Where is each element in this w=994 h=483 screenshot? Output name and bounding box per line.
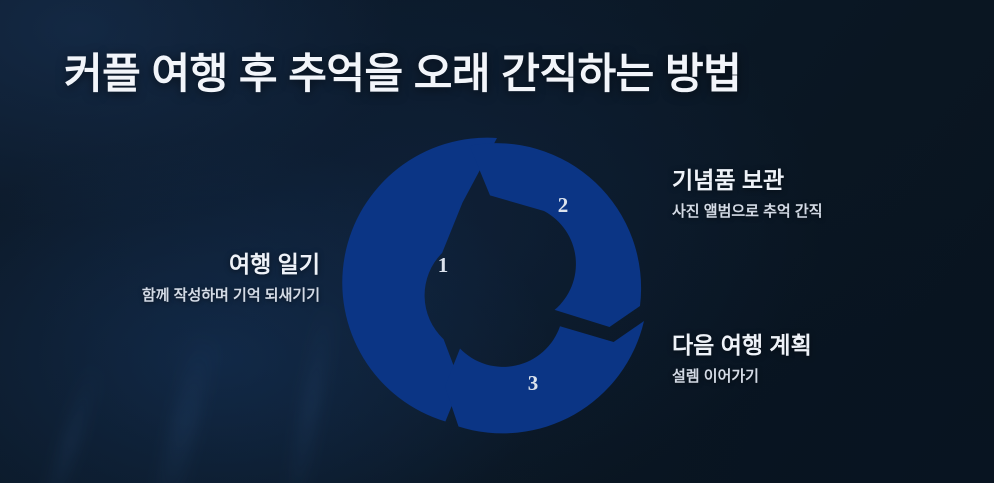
decorative-sheen-3 (33, 362, 104, 483)
decorative-sheen-2 (280, 300, 338, 483)
callout-top-right-title: 기념품 보관 (672, 166, 972, 194)
infographic-canvas: 커플 여행 후 추억을 오래 간직하는 방법 1 2 3 여행 일기 함께 작성… (0, 0, 994, 483)
callout-left-description: 함께 작성하며 기억 되새기기 (20, 287, 320, 306)
callout-top-right-description: 사진 앨범으로 추억 간직 (672, 203, 972, 222)
callout-bottom-right-title: 다음 여행 계획 (672, 331, 972, 359)
donut-segment-2-number: 2 (558, 193, 569, 217)
callout-souvenir-keeping[interactable]: 기념품 보관 사진 앨범으로 추억 간직 (672, 166, 972, 222)
callout-left-title: 여행 일기 (20, 250, 320, 278)
donut-segment-3-number: 3 (528, 371, 539, 395)
page-title: 커플 여행 후 추억을 오래 간직하는 방법 (64, 40, 944, 101)
callout-next-trip-plan[interactable]: 다음 여행 계획 설렘 이어가기 (672, 331, 972, 387)
donut-cycle-chart: 1 2 3 (347, 133, 647, 433)
callout-travel-diary[interactable]: 여행 일기 함께 작성하며 기억 되새기기 (20, 250, 320, 306)
callout-bottom-right-description: 설렘 이어가기 (672, 368, 972, 387)
donut-segment-1-number: 1 (438, 253, 449, 277)
donut-segment-3[interactable]: 3 (445, 321, 644, 433)
donut-segment-2[interactable]: 2 (470, 143, 642, 327)
decorative-sheen-1 (146, 330, 220, 483)
